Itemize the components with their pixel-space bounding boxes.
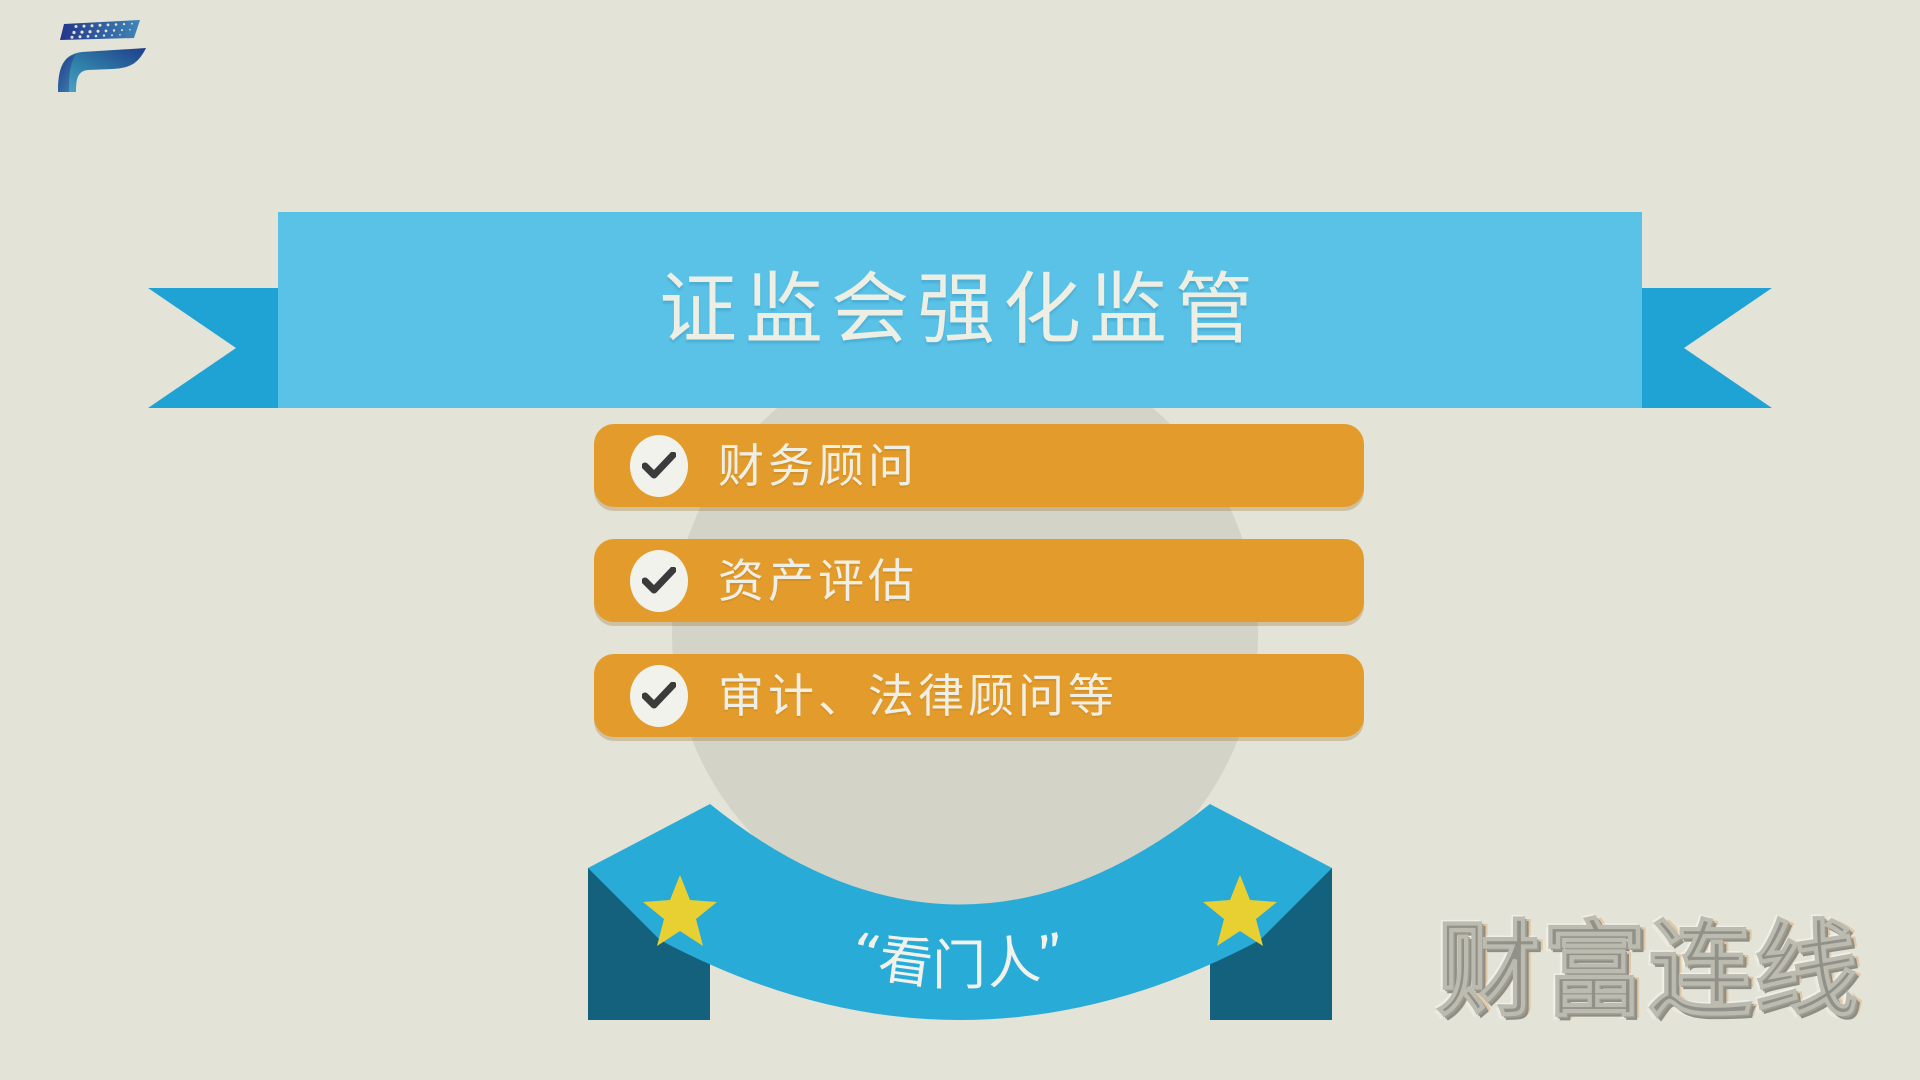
watermark-text: 财富连线: [1436, 918, 1906, 1022]
list-item[interactable]: 资产评估: [594, 539, 1364, 622]
slide-canvas: 证监会强化监管 财务顾问 资产评估 审计、法律顾问等: [0, 0, 1920, 1080]
check-icon: [630, 435, 688, 497]
brand-logo: [42, 14, 162, 98]
feature-list: 财务顾问 资产评估 审计、法律顾问等: [594, 424, 1364, 769]
footer-ribbon-shape: “看门人”: [560, 790, 1360, 1050]
check-icon: [630, 665, 688, 727]
watermark: 财富连线: [1436, 918, 1906, 1048]
list-item-label: 资产评估: [718, 558, 918, 604]
stylized-f-logo: [42, 14, 162, 98]
footer-ribbon: “看门人”: [560, 790, 1360, 1050]
list-item-label: 审计、法律顾问等: [718, 673, 1118, 719]
check-icon: [630, 550, 688, 612]
list-item[interactable]: 财务顾问: [594, 424, 1364, 507]
page-title: 证监会强化监管: [659, 271, 1261, 349]
title-ribbon: 证监会强化监管: [0, 160, 1920, 410]
list-item-label: 财务顾问: [718, 443, 918, 489]
list-item[interactable]: 审计、法律顾问等: [594, 654, 1364, 737]
